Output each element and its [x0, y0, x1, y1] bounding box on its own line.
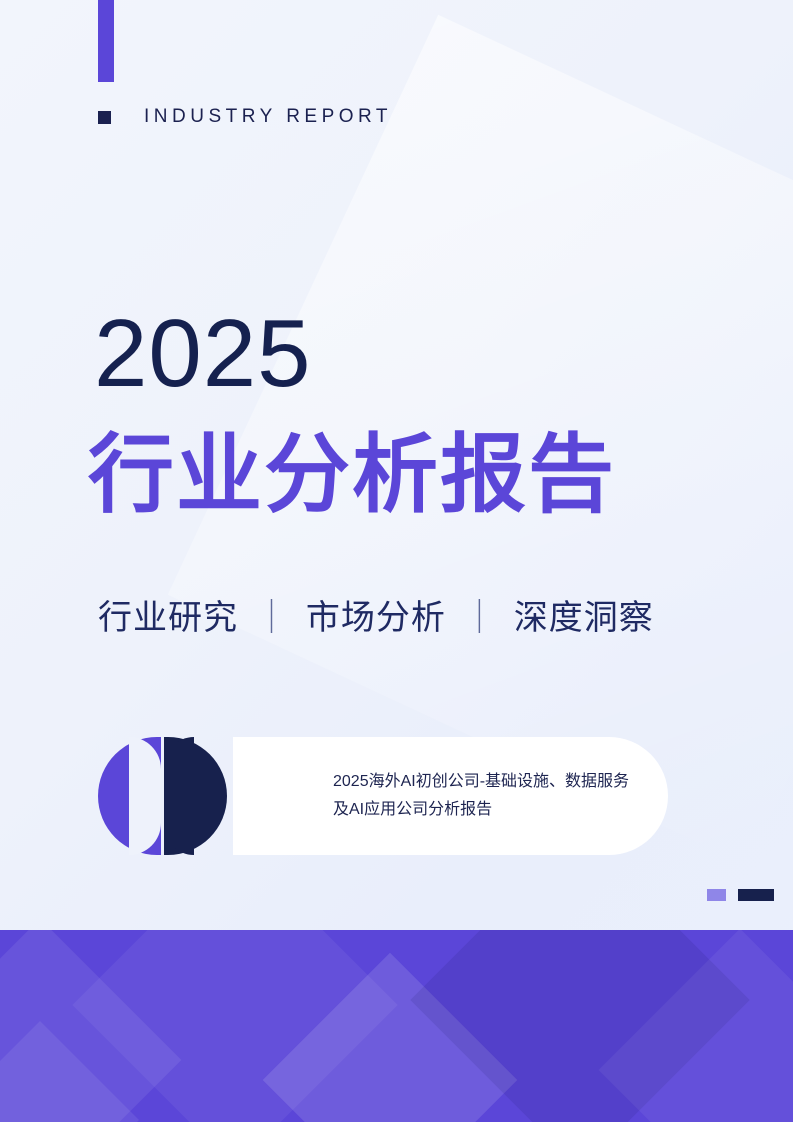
- kicker-block: INDUSTRY REPORT: [98, 106, 392, 128]
- brand-logo-icon: [98, 737, 233, 855]
- subtitle-separator-2: ｜: [456, 599, 503, 637]
- bottom-decorative-band: [0, 930, 793, 1122]
- subtitle-separator-1: ｜: [248, 599, 295, 637]
- subtitle-part-3: 深度洞察: [514, 599, 654, 637]
- subtitle-part-2: 市场分析: [306, 599, 446, 637]
- report-subject-text: 2025海外AI初创公司-基础设施、数据服务及AI应用公司分析报告: [233, 768, 668, 824]
- decorative-square-dark: [738, 889, 774, 901]
- kicker-label: INDUSTRY REPORT: [144, 106, 392, 128]
- page-title: 行业分析报告: [88, 430, 616, 520]
- logo-right-shape: [164, 737, 227, 855]
- subtitle-row: 行业研究 ｜ 市场分析 ｜ 深度洞察: [98, 590, 654, 639]
- decorative-square-light: [707, 889, 726, 901]
- report-cover-page: INDUSTRY REPORT 2025 行业分析报告 行业研究 ｜ 市场分析 …: [0, 0, 793, 1122]
- report-subject-badge: 2025海外AI初创公司-基础设施、数据服务及AI应用公司分析报告: [98, 737, 668, 855]
- logo-left-shape: [98, 737, 161, 855]
- report-subject-card: 2025海外AI初创公司-基础设施、数据服务及AI应用公司分析报告: [233, 737, 668, 855]
- square-marker-icon: [98, 111, 111, 124]
- subtitle-part-1: 行业研究: [98, 599, 238, 637]
- report-year: 2025: [94, 306, 312, 402]
- top-accent-bar: [98, 0, 114, 82]
